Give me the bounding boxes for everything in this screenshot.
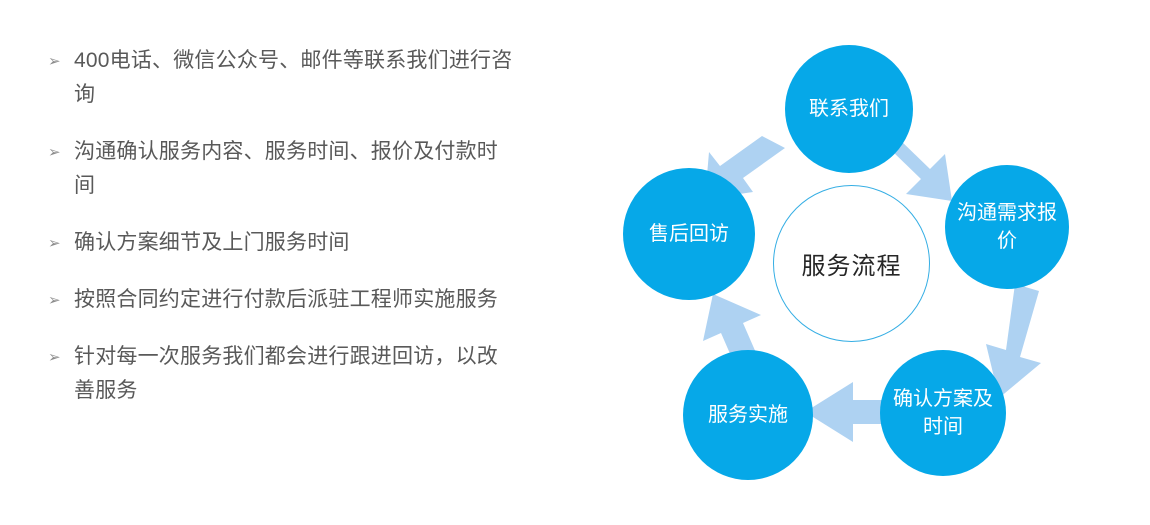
node-discuss-quote-label: 沟通需求报价 — [945, 199, 1069, 255]
list-item-label: 400电话、微信公众号、邮件等联系我们进行咨询 — [74, 44, 518, 112]
node-service-deliver[interactable]: 服务实施 — [683, 350, 813, 480]
service-steps-list: ➢ 400电话、微信公众号、邮件等联系我们进行咨询 ➢ 沟通确认服务内容、服务时… — [48, 44, 518, 431]
list-item: ➢ 400电话、微信公众号、邮件等联系我们进行咨询 — [48, 44, 518, 112]
list-item-label: 确认方案细节及上门服务时间 — [74, 226, 518, 260]
node-service-deliver-label: 服务实施 — [683, 401, 813, 429]
bullet-arrow-icon: ➢ — [48, 135, 74, 169]
list-item: ➢ 确认方案细节及上门服务时间 — [48, 226, 518, 260]
hub-circle: 服务流程 — [773, 185, 930, 342]
bullet-arrow-icon: ➢ — [48, 283, 74, 317]
slide-canvas: ➢ 400电话、微信公众号、邮件等联系我们进行咨询 ➢ 沟通确认服务内容、服务时… — [0, 0, 1150, 525]
node-contact-us[interactable]: 联系我们 — [785, 45, 913, 173]
list-item: ➢ 针对每一次服务我们都会进行跟进回访，以改善服务 — [48, 340, 518, 408]
hub-label: 服务流程 — [802, 246, 902, 281]
service-process-cycle-diagram: 服务流程 联系我们 沟通需求报价 确认方案及时间 服务实施 售后回访 — [600, 20, 1100, 510]
bullet-arrow-icon: ➢ — [48, 226, 74, 260]
list-item-label: 沟通确认服务内容、服务时间、报价及付款时间 — [74, 135, 518, 203]
list-item: ➢ 沟通确认服务内容、服务时间、报价及付款时间 — [48, 135, 518, 203]
node-confirm-plan[interactable]: 确认方案及时间 — [880, 350, 1006, 476]
bullet-arrow-icon: ➢ — [48, 44, 74, 78]
node-discuss-quote[interactable]: 沟通需求报价 — [945, 165, 1069, 289]
node-after-sales-label: 售后回访 — [623, 220, 755, 248]
bullet-arrow-icon: ➢ — [48, 340, 74, 374]
node-contact-us-label: 联系我们 — [785, 95, 913, 123]
node-after-sales[interactable]: 售后回访 — [623, 168, 755, 300]
list-item: ➢ 按照合同约定进行付款后派驻工程师实施服务 — [48, 283, 518, 317]
node-confirm-plan-label: 确认方案及时间 — [880, 385, 1006, 441]
list-item-label: 针对每一次服务我们都会进行跟进回访，以改善服务 — [74, 340, 518, 408]
list-item-label: 按照合同约定进行付款后派驻工程师实施服务 — [74, 283, 518, 317]
